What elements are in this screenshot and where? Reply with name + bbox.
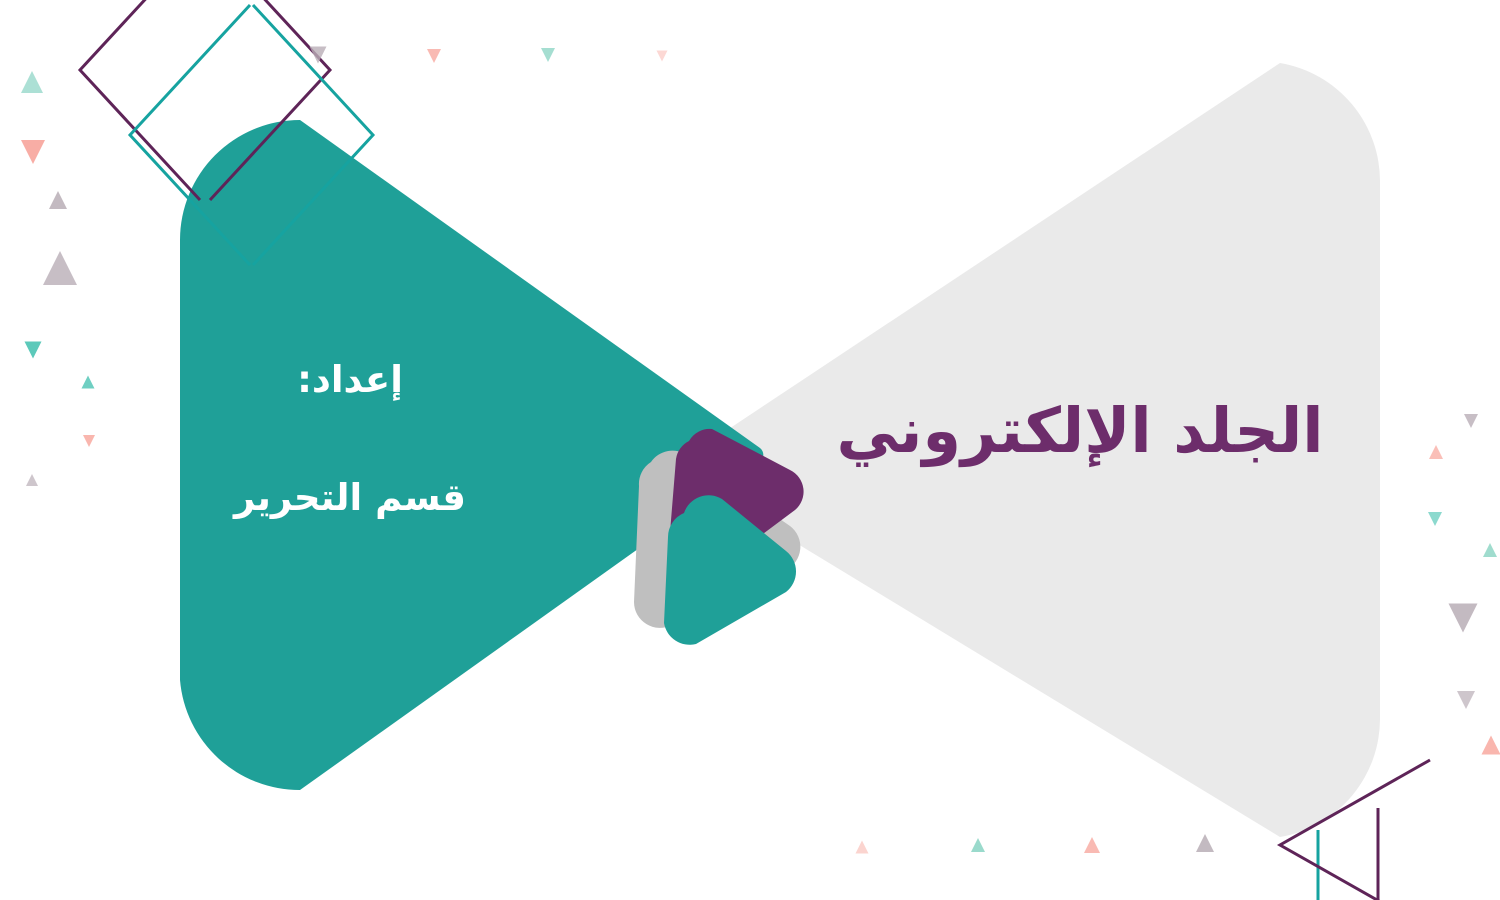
outline-triangle-top-left-teal-left (130, 5, 250, 265)
byline-block: إعداد: قسم التحرير (200, 358, 500, 521)
confetti-triangle-5 (82, 376, 95, 389)
slide-canvas: الجلد الإلكتروني إعداد: قسم التحرير (0, 0, 1500, 900)
confetti-triangle-10 (541, 48, 555, 62)
confetti-triangle-0 (21, 71, 43, 93)
confetti-triangle-2 (49, 191, 67, 209)
confetti-triangle-17 (1457, 691, 1475, 709)
confetti-triangle-9 (427, 49, 441, 63)
confetti-triangle-22 (1196, 834, 1214, 852)
outline-triangle-bottom-right-purple-b (1280, 760, 1430, 900)
confetti-triangle-7 (26, 474, 38, 486)
confetti-triangle-8 (310, 47, 327, 64)
confetti-triangle-12 (1464, 414, 1478, 428)
confetti-triangle-16 (1449, 604, 1478, 633)
confetti-triangle-15 (1483, 543, 1497, 557)
confetti-triangle-11 (657, 51, 668, 62)
confetti-triangle-1 (21, 140, 45, 164)
outline-triangle-top-left-purple-left (80, 0, 200, 200)
title-block: الجلد الإلكتروني (800, 392, 1360, 470)
confetti-triangle-20 (971, 838, 985, 852)
byline-value: قسم التحرير (200, 476, 500, 520)
confetti-triangle-6 (83, 435, 95, 447)
byline-label: إعداد: (200, 358, 500, 402)
confetti-triangle-4 (25, 342, 42, 359)
confetti-triangle-18 (1482, 736, 1500, 755)
confetti-triangle-3 (43, 251, 77, 285)
outline-triangle-bottom-right-purple-a (1378, 808, 1500, 900)
confetti-triangle-14 (1428, 512, 1442, 526)
confetti-triangle-13 (1429, 445, 1443, 459)
confetti-triangle-19 (856, 841, 869, 854)
confetti-triangle-21 (1084, 837, 1100, 853)
outline-triangle-bottom-right-teal (1318, 830, 1470, 900)
page-title: الجلد الإلكتروني (800, 392, 1360, 470)
